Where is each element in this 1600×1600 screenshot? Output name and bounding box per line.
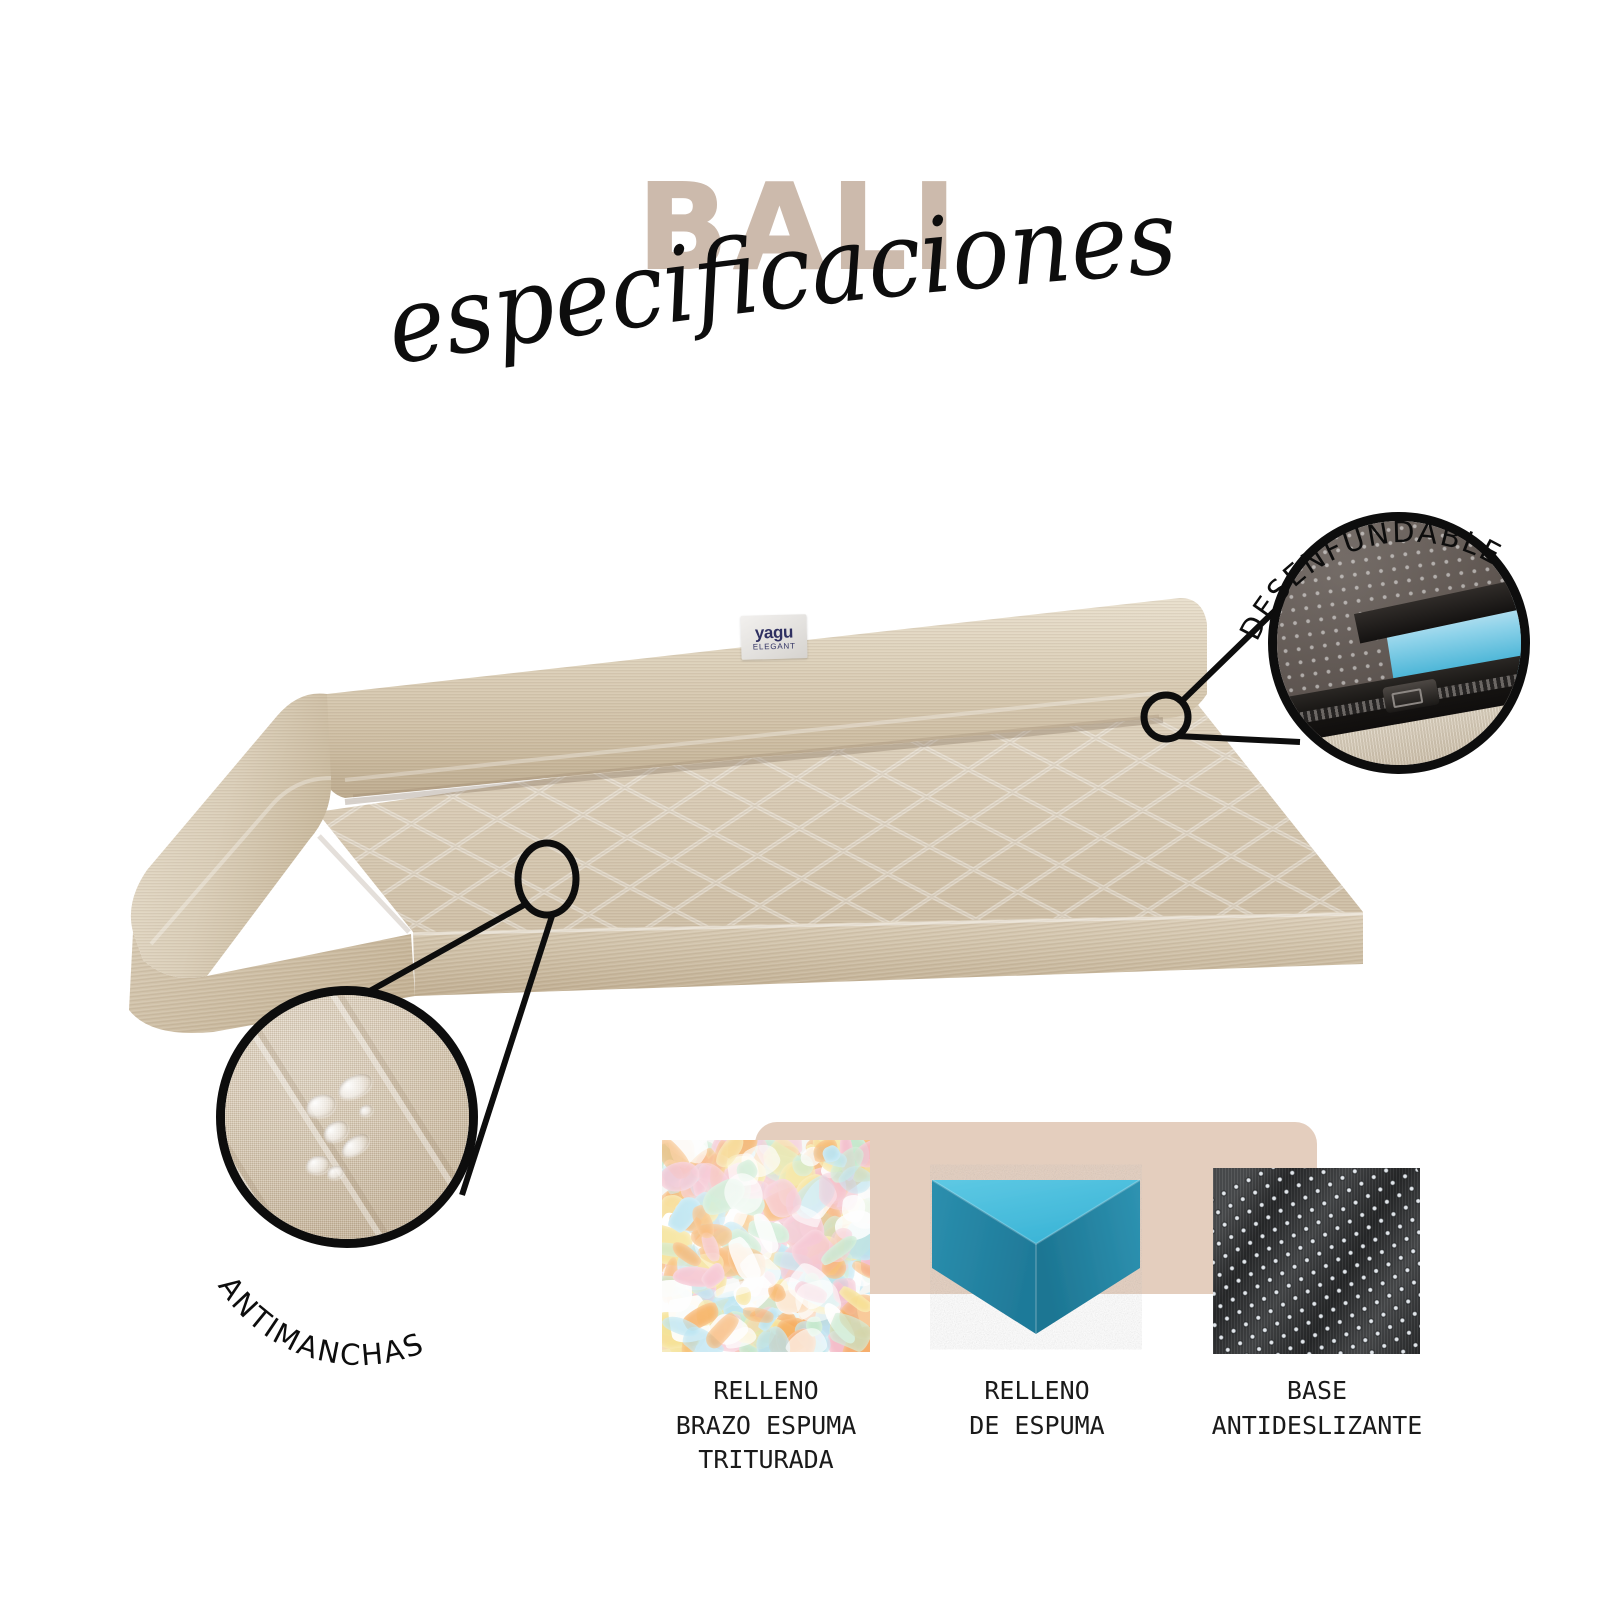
spec-sheet: BALI especificaciones xyxy=(0,0,1600,1600)
callout-label-antimanchas: ANTIMANCHAS xyxy=(212,1270,430,1372)
material-caption-antislip-base: BASE ANTIDESLIZANTE xyxy=(1146,1374,1488,1443)
brand-name: yagu xyxy=(755,623,794,641)
bed-left-arm-bolster xyxy=(131,693,331,978)
callout-magnifier-desenfundable xyxy=(1268,512,1530,774)
product-image-dog-bed xyxy=(95,540,1395,1030)
callout-magnifier-antimanchas xyxy=(216,986,478,1248)
stain-resistant-detail-photo xyxy=(225,995,469,1239)
material-swatch-antislip-base xyxy=(1213,1168,1420,1354)
brand-tag: yagu ELEGANT xyxy=(740,614,807,660)
brand-line: ELEGANT xyxy=(753,642,796,651)
material-caption-shredded-foam: RELLENO BRAZO ESPUMA TRITURADA xyxy=(596,1374,936,1478)
zipper-detail-photo xyxy=(1277,521,1521,765)
material-caption-foam-block: RELLENO DE ESPUMA xyxy=(896,1374,1178,1443)
material-swatch-shredded-foam xyxy=(662,1140,870,1352)
foam-haze xyxy=(662,1140,870,1352)
material-swatch-foam-block xyxy=(930,1148,1142,1354)
